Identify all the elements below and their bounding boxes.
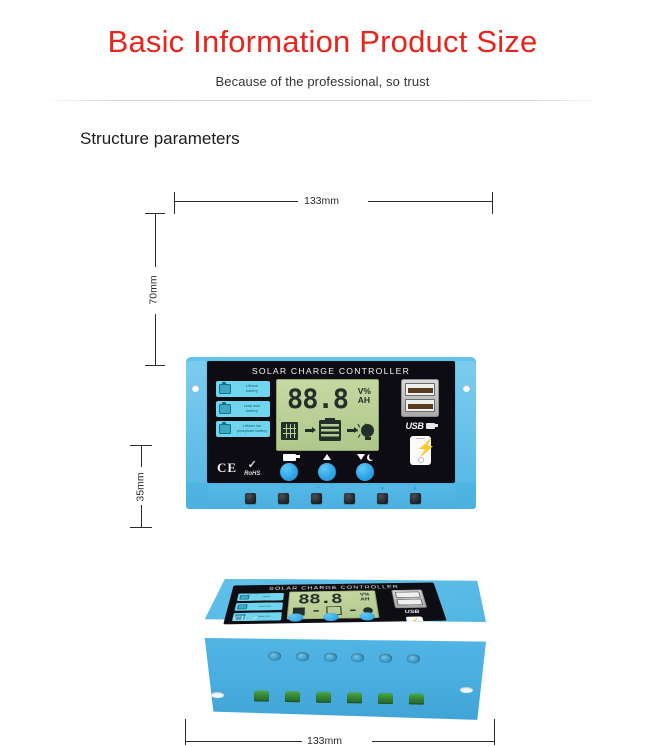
battery-type-lithium[interactable]: Lithium bbox=[237, 593, 284, 601]
device1-left-flange bbox=[186, 361, 206, 483]
terminal-screw[interactable] bbox=[377, 493, 388, 504]
up-button[interactable] bbox=[318, 463, 336, 481]
usb-port-1[interactable] bbox=[405, 383, 435, 396]
mount-hole-left bbox=[192, 385, 199, 392]
terminal-screw[interactable] bbox=[344, 493, 355, 504]
dim-line-bottom-a bbox=[185, 741, 302, 742]
usb-port-1[interactable] bbox=[395, 591, 421, 597]
lcd-unit-voltage-percent: V% bbox=[360, 593, 370, 597]
product-dimension-diagram: 133mm 70mm SOLAR CHARGE CONTROLLER Lithi… bbox=[0, 149, 645, 619]
lcd-unit-amp-hour: AH bbox=[358, 395, 370, 405]
battery-type-label: Lithium bbox=[249, 595, 284, 598]
usb-ports[interactable] bbox=[401, 379, 439, 417]
phone-charging-icon: ⚡ bbox=[410, 436, 431, 465]
terminal-screw[interactable] bbox=[351, 653, 364, 662]
panel-title: SOLAR CHARGE CONTROLLER bbox=[207, 366, 455, 376]
rohs-icon: ✓RoHS bbox=[244, 460, 260, 477]
certification-marks: CE ✓ bbox=[233, 614, 260, 621]
down-button-cell bbox=[352, 453, 378, 481]
lcd-digits: 88.8 bbox=[297, 592, 342, 606]
dim-line-bottom-b bbox=[372, 741, 494, 742]
menu-button-cell bbox=[276, 453, 302, 481]
dim-tick-depth-bottom bbox=[130, 527, 152, 528]
battery-icon bbox=[219, 424, 231, 434]
battery-type-selector: Lithium battery Lead acid battery Lithiu… bbox=[216, 381, 270, 441]
menu-button[interactable] bbox=[280, 463, 298, 481]
terminal-screw[interactable] bbox=[245, 493, 256, 504]
light-bulb-icon bbox=[361, 424, 374, 437]
mount-hole-right bbox=[463, 385, 470, 392]
dim-tick-top-right bbox=[492, 192, 493, 214]
mount-hole-left bbox=[211, 691, 224, 697]
lcd-units: V% AH bbox=[360, 593, 371, 602]
lcd-unit-voltage-percent: V% bbox=[358, 386, 371, 396]
device1-terminal-strip: ☼☼+−●● bbox=[207, 485, 455, 509]
dim-label-height: 70mm bbox=[148, 275, 160, 304]
section-heading: Structure parameters bbox=[80, 129, 645, 149]
green-terminal[interactable] bbox=[378, 692, 393, 703]
solar-panel-icon bbox=[281, 422, 298, 440]
terminal-screw[interactable] bbox=[379, 653, 392, 662]
phone-charging-icon: ⚡ bbox=[405, 616, 425, 624]
green-terminal[interactable] bbox=[285, 691, 300, 702]
dim-line-left-b bbox=[155, 314, 156, 365]
dim-tick-left-bottom bbox=[145, 365, 165, 366]
battery-type-lead-acid[interactable]: Lead acid battery bbox=[216, 401, 270, 417]
menu-icon bbox=[276, 453, 302, 462]
usb-label-row: USB bbox=[393, 421, 447, 431]
battery-type-label-line1: Lithium bbox=[246, 384, 258, 388]
down-night-button[interactable] bbox=[359, 612, 375, 620]
terminal-screw[interactable] bbox=[268, 651, 281, 660]
certification-marks: CE ✓RoHS bbox=[217, 460, 260, 477]
usb-port-2[interactable] bbox=[396, 598, 423, 605]
header-divider bbox=[43, 100, 603, 101]
dim-line-top-b bbox=[368, 201, 492, 202]
page-header: Basic Information Product Size Because o… bbox=[0, 0, 645, 101]
green-terminal[interactable] bbox=[254, 690, 269, 701]
down-night-button[interactable] bbox=[356, 463, 374, 481]
terminal-screw[interactable] bbox=[296, 652, 309, 661]
up-button[interactable] bbox=[323, 612, 339, 620]
lcd-unit-amp-hour: AH bbox=[360, 597, 370, 601]
flow-arrow-icon bbox=[305, 429, 312, 432]
battery-type-label-line1: Lead acid bbox=[244, 404, 261, 408]
battery-icon bbox=[219, 404, 231, 414]
battery-type-label-line2: battery bbox=[246, 409, 258, 413]
dim-label-depth: 35mm bbox=[135, 472, 147, 501]
battery-type-label-line2: battery bbox=[246, 389, 258, 393]
mount-hole-right bbox=[460, 686, 473, 692]
lcd-display: 88.8 V% AH ◦ bbox=[276, 379, 379, 451]
control-button-row bbox=[276, 453, 379, 481]
menu-button[interactable] bbox=[288, 613, 304, 621]
terminal-screw[interactable] bbox=[407, 654, 420, 663]
dim-line-left-a bbox=[155, 213, 156, 267]
device1-front-panel: SOLAR CHARGE CONTROLLER Lithium battery … bbox=[207, 361, 455, 483]
terminal-symbols: ☼☼+−●● bbox=[247, 486, 417, 493]
controller-perspective-view: SOLAR CHARGE CONTROLLER Lithium Lead aci… bbox=[196, 579, 486, 727]
device1-right-flange bbox=[456, 361, 476, 483]
ce-icon: CE bbox=[233, 615, 248, 622]
device2-front-panel: SOLAR CHARGE CONTROLLER Lithium Lead aci… bbox=[223, 582, 446, 624]
rohs-icon: ✓ bbox=[251, 614, 260, 621]
battery-type-lifepo4[interactable]: Lithium ion phosphate battery bbox=[216, 421, 270, 437]
usb-ports[interactable] bbox=[391, 589, 427, 608]
battery-type-label-line1: Lithium ion bbox=[243, 424, 261, 428]
battery-type-label: Lead acid bbox=[247, 605, 283, 608]
dim-line-depth-a bbox=[141, 445, 142, 467]
usb-port-2[interactable] bbox=[405, 399, 435, 412]
page-title: Basic Information Product Size bbox=[0, 24, 645, 60]
green-terminal[interactable] bbox=[409, 693, 424, 704]
triangle-up-icon bbox=[314, 453, 340, 462]
battery-type-label-line2: phosphate battery bbox=[237, 429, 267, 433]
terminal-screw[interactable] bbox=[410, 493, 421, 504]
triangle-down-moon-icon bbox=[352, 453, 378, 462]
green-terminal[interactable] bbox=[316, 691, 331, 702]
dim-line-depth-b bbox=[141, 505, 142, 527]
page-subtitle: Because of the professional, so trust bbox=[0, 74, 645, 89]
control-button-row bbox=[286, 610, 380, 622]
battery-icon bbox=[319, 420, 341, 441]
controller-front-view: SOLAR CHARGE CONTROLLER Lithium battery … bbox=[186, 357, 476, 509]
terminal-screw[interactable] bbox=[311, 493, 322, 504]
terminal-screws bbox=[245, 493, 421, 504]
usb-label: USB bbox=[405, 421, 423, 431]
lcd-units: V% AH bbox=[358, 387, 371, 407]
dim-tick-bottom-right bbox=[494, 719, 495, 745]
battery-type-lead-acid[interactable]: Lead acid bbox=[234, 602, 283, 610]
battery-type-lithium[interactable]: Lithium battery bbox=[216, 381, 270, 397]
dim-line-top-a bbox=[174, 201, 298, 202]
device2-front-face bbox=[196, 631, 486, 723]
usb-label: USB bbox=[388, 609, 437, 615]
battery-icon bbox=[219, 384, 231, 394]
usb-section: USB ⚡ bbox=[393, 379, 447, 465]
terminal-screw[interactable] bbox=[324, 652, 337, 661]
dim-label-bottom-width: 133mm bbox=[307, 735, 342, 747]
green-terminal[interactable] bbox=[347, 692, 362, 703]
lcd-flow-indicator bbox=[281, 418, 374, 444]
ce-icon: CE bbox=[217, 460, 237, 476]
up-button-cell bbox=[314, 453, 340, 481]
usb-plug-icon bbox=[426, 423, 435, 429]
dim-label-top-width: 133mm bbox=[304, 195, 339, 207]
bulb-rays-icon bbox=[356, 419, 379, 442]
terminal-screw[interactable] bbox=[278, 493, 289, 504]
dim-tick-top-left bbox=[174, 192, 175, 214]
usb-section: USB ⚡ bbox=[384, 589, 442, 624]
lcd-digits: 88.8 bbox=[287, 386, 348, 413]
